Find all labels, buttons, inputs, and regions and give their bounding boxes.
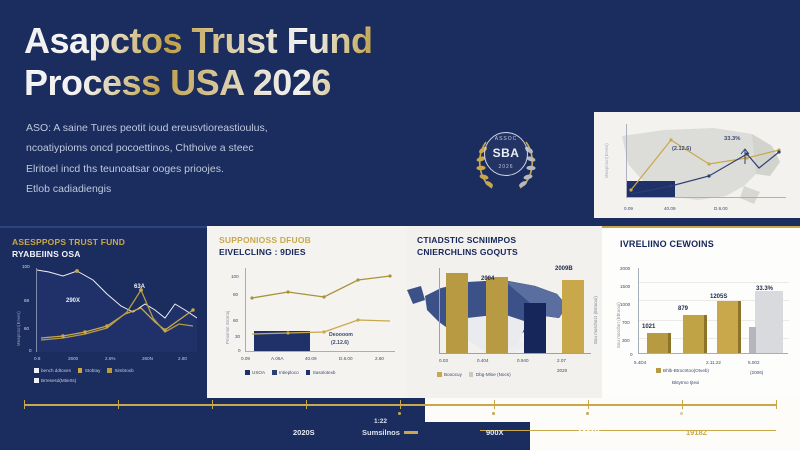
- panel-2-ytick-100: 100: [231, 274, 239, 279]
- panel-1-annotation-63a: 63A: [134, 284, 145, 290]
- timeline-white-block-mid: [425, 398, 660, 422]
- panel-3-bar: [524, 303, 546, 353]
- panel-1-title-white: Ryabeiins Osa: [12, 249, 81, 259]
- legend-swatch-icon: [306, 370, 311, 375]
- hero-chart-ylabel: Meapnsot(Erves): [604, 143, 609, 178]
- panel-4-ytick-1500: 1500: [620, 284, 630, 289]
- panel-3-legend-label: Booocuy: [444, 372, 462, 377]
- panel-1-legend-item: Simbtoxb: [107, 368, 133, 373]
- panel-1-xtick-2: 2.6%: [105, 356, 115, 361]
- panel-1-plot: [36, 268, 196, 352]
- panel-2-xtick-0: 0.09: [241, 356, 250, 361]
- panel-2-legend-item: USOA: [245, 370, 265, 375]
- panel-1-title-gold: Asesppops Trust Fund: [12, 237, 125, 247]
- legend-swatch-icon: [34, 378, 39, 383]
- panel-3-xtick-1: 0.404: [477, 358, 489, 363]
- hero-chart-plot: [626, 124, 786, 198]
- panel-2-ytick-30: 30: [235, 334, 240, 339]
- legend-swatch-icon: [34, 368, 39, 373]
- panel-2-xtick-3: D.6.00: [339, 356, 353, 361]
- timeline-label: 900X: [486, 428, 504, 437]
- seal-emblem: ASSOC SBA 2026: [470, 128, 542, 200]
- panel-4-xtick-0: 5.4D4: [634, 360, 646, 365]
- panel-3-bar: [446, 273, 468, 353]
- panel-3-title-line2: Cnierchlins Goquts: [417, 247, 518, 257]
- panel-3-legend: Booocuy Dbg-Mloe (Nocs): [437, 372, 511, 377]
- panel-3-annotation-2009b: 2009B: [555, 266, 573, 272]
- panel-4-bar: [647, 333, 671, 353]
- timeline-label: Sumsilnos: [362, 428, 400, 437]
- panel-2-legend: USOA Intieploco Sasolotexb: [245, 370, 335, 375]
- timeline-tick: [306, 400, 307, 409]
- subtitle-line: Etlob cadiadiengis: [26, 179, 386, 199]
- panel-1-annotation-290x: 290X: [66, 298, 80, 304]
- panel-2-xtick-4: 2.60: [375, 356, 384, 361]
- hero-chart-annotation-2: 33.3%: [724, 136, 740, 142]
- panel-3-xtick-3: 2.07: [557, 358, 566, 363]
- panel-asesppops-trust-fund: Asesppops Trust Fund Ryabeiins Osa Meapn…: [0, 226, 207, 398]
- panel-1-legend-item: Stobtay: [78, 368, 101, 373]
- legend-swatch-icon: [245, 370, 250, 375]
- timeline-tick: [400, 400, 401, 409]
- panel-1-ylabel: Meapnsot(Erves): [16, 311, 21, 346]
- timeline-tick: [588, 400, 589, 409]
- panel-4-ytick-700: 700: [622, 320, 630, 325]
- panel-1-ytick-100: 100: [22, 264, 30, 269]
- panel-3-title-line1: Ctiadstic Scniimpos: [417, 235, 516, 245]
- panel-1-legend-row2: Brresesd(Mtierts): [34, 378, 76, 383]
- panel-4-ytick-1000: 1000: [620, 302, 630, 307]
- timeline-tick: [776, 400, 777, 409]
- page-title: Asapctos Trust Fund Process USA 2026: [24, 20, 584, 104]
- legend-swatch-icon: [469, 372, 474, 377]
- panel-4-ytick-300: 300: [622, 338, 630, 343]
- panel-2-ylabel: Pmoimst Stontoj: [225, 311, 230, 345]
- seal-center-text: SBA: [484, 146, 528, 160]
- timeline-rule-secondary: [480, 430, 776, 431]
- panel-4-title: Ivreliino Cewoins: [620, 239, 714, 249]
- panel-supponioss-dfuob: Supponioss Dfuob Eivelcling : 9dies Pmoi…: [207, 226, 407, 398]
- timeline-bar-icon: [404, 431, 418, 434]
- panel-1-legend-label: bench ddtoxes: [41, 368, 71, 373]
- panel-4-bar: [683, 315, 707, 353]
- hero-chart-annotation: (2.12.6): [672, 146, 691, 152]
- panel-1-area-and-lines: [37, 268, 197, 352]
- panel-3-xtick-2: 0.940: [517, 358, 529, 363]
- title-line-2: Process USA 2026: [24, 62, 331, 103]
- hero-map-chart-panel: Meapnsot(Erves) (2.12.6) 33.3% 0.09 40.0…: [594, 112, 800, 218]
- panel-4-value-label: 1021: [642, 324, 655, 330]
- panel-1-xtick-1: 2600: [68, 356, 78, 361]
- panel-3-bar: [486, 277, 508, 353]
- panel-3-bar: [562, 280, 584, 353]
- timeline-label-top: 1:22: [374, 418, 387, 425]
- legend-swatch-icon: [107, 368, 112, 373]
- subtitle-line: ASO: A saine Tures peotit ioud ereusvtio…: [26, 118, 386, 138]
- panel-4-legend-item: Bhlb-Btroctrtoo(Otveb): [656, 368, 709, 373]
- infographic-root: Asapctos Trust Fund Process USA 2026 ASO…: [0, 0, 800, 450]
- panel-1-legend-label: Simbtoxb: [114, 368, 133, 373]
- panel-2-plot: [245, 268, 395, 352]
- panel-4-xtick-3: 5.002: [748, 360, 760, 365]
- timeline-tick: [212, 400, 213, 409]
- panel-2-lines: [246, 268, 396, 352]
- panel-2-legend-label: Sasolotexb: [313, 370, 336, 375]
- hero-chart-xlabel: 0.09: [624, 206, 633, 211]
- panel-1-xtick-3: 260N: [142, 356, 153, 361]
- timeline-tick: [118, 400, 119, 409]
- timeline-label: 2020S: [293, 428, 315, 437]
- panel-4-legend-label: Bhlb-Btroctrtoo(Otveb): [663, 368, 709, 373]
- panel-3-legend-item: Booocuy: [437, 372, 462, 377]
- panel-2-xtick-2: 40.09: [305, 356, 317, 361]
- panel-4-bar-gray: [755, 291, 783, 353]
- legend-swatch-icon: [437, 372, 442, 377]
- panel-3-legend-label: Dbg-Mloe (Nocs): [476, 372, 511, 377]
- seal-top-text: ASSOC: [484, 136, 528, 142]
- hero-subtitle: ASO: A saine Tures peotit ioud ereusvtio…: [26, 118, 386, 200]
- panel-2-ytick-60: 60: [233, 318, 238, 323]
- panel-4-value-label: 879: [678, 306, 688, 312]
- panel-3-annotation-2004: 2004: [481, 276, 494, 282]
- panel-3-legend-item: Dbg-Mloe (Nocs): [469, 372, 511, 377]
- panel-2-legend-label: Intieploco: [279, 370, 299, 375]
- timeline-tick: [682, 400, 683, 409]
- panel-2-title-white: Eivelcling : 9dies: [219, 247, 306, 257]
- panel-4-ytick-2000: 2000: [620, 266, 630, 271]
- panel-4-xtick-2: 2.11.22: [706, 360, 721, 365]
- panel-2-legend-label: USOA: [252, 370, 265, 375]
- timeline-label: 1918Z: [686, 428, 707, 437]
- panel-4-bar-gray-edge: [749, 327, 756, 353]
- panel-2-xtick-1: A.06A: [271, 356, 284, 361]
- timeline-dot: [398, 412, 401, 415]
- panel-1-legend-label: Stobtay: [85, 368, 101, 373]
- panel-2-legend-item: Intieploco: [272, 370, 299, 375]
- gridline: [639, 282, 789, 283]
- panel-4-ytick-0: 0: [630, 352, 633, 357]
- panel-2-title-gold: Supponioss Dfuob: [219, 235, 311, 245]
- legend-swatch-icon: [78, 368, 83, 373]
- panel-1-xtick-4: 2.80: [178, 356, 187, 361]
- panel-3-xtick-0: 0.03: [439, 358, 448, 363]
- panel-1-legend: bench ddtoxes Stobtay Simbtoxb: [34, 368, 134, 373]
- panel-1-ytick-60: 60: [24, 326, 29, 331]
- seal-bottom-text: 2026: [484, 164, 528, 170]
- panel-2-annotation: Deoooom: [329, 332, 353, 338]
- panel-4-plot: [638, 268, 788, 354]
- timeline-label: 1991X: [578, 428, 600, 437]
- panel-4-value-label: 33.3%: [756, 286, 773, 292]
- panel-1-legend-item: Brresesd(Mtierts): [34, 378, 76, 383]
- panel-4-value-label: 1205S: [710, 294, 727, 300]
- subtitle-line: Elritoel incd ths teunoatsar ooges prioo…: [26, 159, 386, 179]
- panel-2-legend-item: Sasolotexb: [306, 370, 336, 375]
- panel-4-bar: [717, 301, 741, 353]
- hero-chart-xtick: 40.09: [664, 206, 676, 211]
- timeline-label-with-bar: Sumsilnos: [362, 428, 418, 437]
- panel-1-xtick-0: 0.8: [34, 356, 40, 361]
- hero-chart-xtick-2: D.6.00: [714, 206, 728, 211]
- panel-3-ylabel: Sou morchoct (Estooxi): [593, 296, 598, 344]
- legend-swatch-icon: [272, 370, 277, 375]
- panel-1-legend-item: bench ddtoxes: [34, 368, 71, 373]
- subtitle-line: ncoatiypioms oncd pocoettinos, Chthoive …: [26, 138, 386, 158]
- panel-4-legend: Bhlb-Btroctrtoo(Otveb): [656, 368, 709, 373]
- panel-4-xaxis-label: Bktytmo Ijtexi: [672, 380, 699, 385]
- timeline-strip: 2020S 1:22 Sumsilnos 900X 1991X 1918Z: [0, 398, 800, 450]
- panel-2-ytick-80: 80: [233, 292, 238, 297]
- panel-ctiadstic-scniimpos: Ctiadstic Scniimpos Cnierchlins Goquts S…: [407, 226, 602, 398]
- hero-chart-lines: [627, 124, 787, 198]
- panel-3-sublabel: 2020: [557, 368, 567, 373]
- panel-2-annotation-2: (2.12.6): [331, 340, 349, 346]
- panel-4-xsublabel: (2006): [750, 370, 763, 375]
- timeline-tick: [494, 400, 495, 409]
- panel-1-ytick-0: 0: [29, 348, 32, 353]
- panel-2-ytick-0: 0: [238, 348, 241, 353]
- panel-1-ytick-68: 68: [24, 298, 29, 303]
- legend-swatch-icon: [656, 368, 661, 373]
- panel-ivreliino-cewoins: Ivreliino Cewoins Sou morcbot (Ebtooxi) …: [602, 226, 800, 398]
- timeline-tick: [24, 400, 25, 409]
- panel-4-ylabel: Sou morcbot (Ebtooxi): [616, 302, 621, 348]
- panel-1-legend-label: Brresesd(Mtierts): [41, 378, 76, 383]
- panel-3-plot: [439, 268, 591, 354]
- title-line-1: Asapctos Trust Fund: [24, 20, 373, 61]
